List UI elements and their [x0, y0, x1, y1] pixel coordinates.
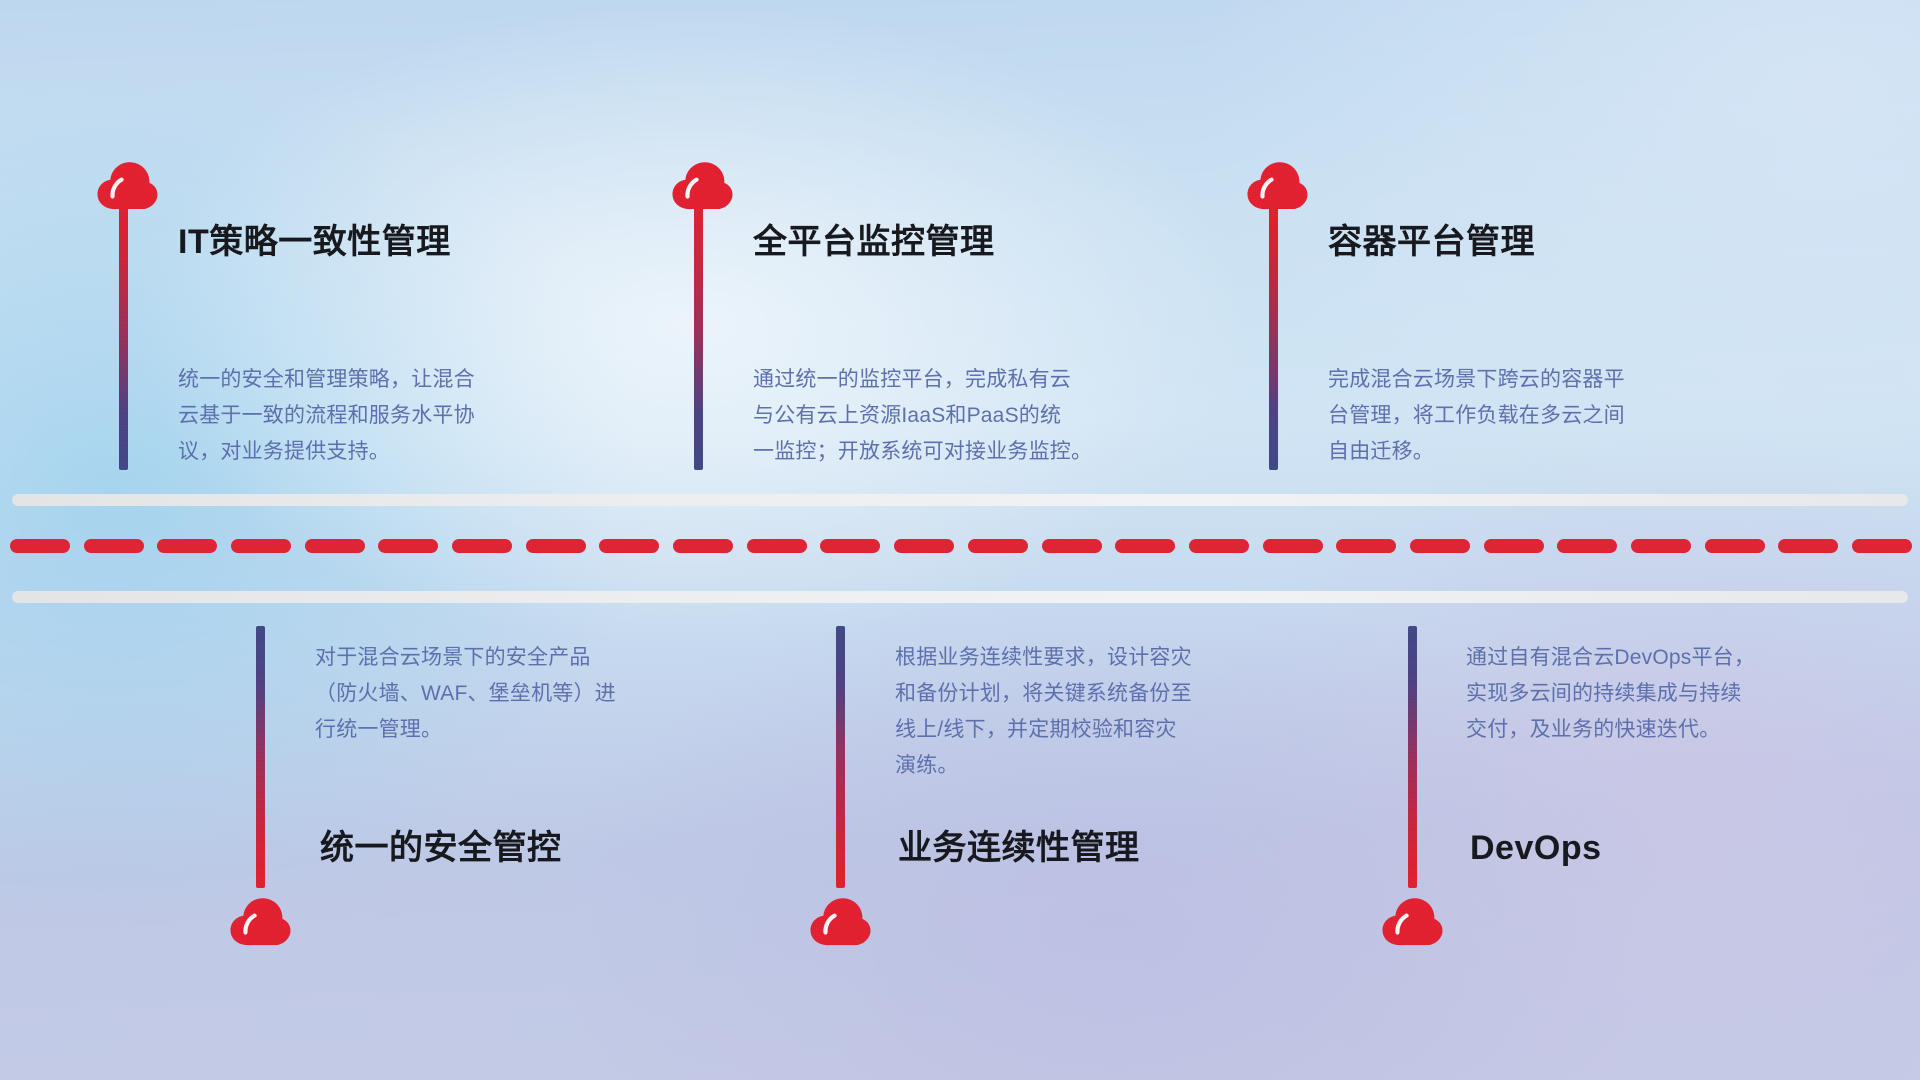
road-dash [1705, 539, 1765, 553]
road-dash [599, 539, 659, 553]
body-line: 根据业务连续性要求，设计容灾 [895, 640, 1315, 676]
card-body: 通过统一的监控平台，完成私有云 与公有云上资源IaaS和PaaS的统 一监控；开… [753, 362, 1213, 470]
road-dash [1631, 539, 1691, 553]
cloud-icon [96, 160, 158, 210]
marker-stem [1269, 205, 1278, 470]
road-dash [894, 539, 954, 553]
road-dash [1484, 539, 1544, 553]
road-dash [1189, 539, 1249, 553]
card-body: 对于混合云场景下的安全产品 （防火墙、WAF、堡垒机等）进 行统一管理。 [315, 640, 735, 748]
body-line: （防火墙、WAF、堡垒机等）进 [315, 676, 735, 712]
body-line: 自由迁移。 [1328, 434, 1768, 470]
road-dash [1557, 539, 1617, 553]
card-title: 统一的安全管控 [320, 828, 562, 869]
body-line: 与公有云上资源IaaS和PaaS的统 [753, 398, 1213, 434]
body-line: 实现多云间的持续集成与持续 [1466, 676, 1886, 712]
road-dash [452, 539, 512, 553]
road-dash [526, 539, 586, 553]
road-dash [1115, 539, 1175, 553]
infographic-canvas: IT策略一致性管理 统一的安全和管理策略，让混合 云基于一致的流程和服务水平协 … [0, 0, 1920, 1080]
road-dash [1852, 539, 1912, 553]
cloud-icon [1381, 896, 1443, 946]
road-dash [673, 539, 733, 553]
cloud-icon [671, 160, 733, 210]
road-dash [10, 539, 70, 553]
body-line: 对于混合云场景下的安全产品 [315, 640, 735, 676]
marker-stem [256, 626, 265, 888]
card-title: DevOps [1470, 828, 1602, 869]
cloud-icon [1246, 160, 1308, 210]
road-dash [1778, 539, 1838, 553]
card-title: 业务连续性管理 [898, 828, 1140, 869]
body-line: 交付，及业务的快速迭代。 [1466, 712, 1886, 748]
marker-stem [694, 205, 703, 470]
body-line: 一监控；开放系统可对接业务监控。 [753, 434, 1213, 470]
body-line: 通过自有混合云DevOps平台， [1466, 640, 1886, 676]
cloud-icon [809, 896, 871, 946]
marker-stem [836, 626, 845, 888]
body-line: 台管理，将工作负载在多云之间 [1328, 398, 1768, 434]
body-line: 演练。 [895, 748, 1315, 784]
road-dash [820, 539, 880, 553]
card-body: 完成混合云场景下跨云的容器平 台管理，将工作负载在多云之间 自由迁移。 [1328, 362, 1768, 470]
marker-stem [119, 205, 128, 470]
body-line: 通过统一的监控平台，完成私有云 [753, 362, 1213, 398]
card-body: 统一的安全和管理策略，让混合 云基于一致的流程和服务水平协 议，对业务提供支持。 [178, 362, 608, 470]
road-rail-top [12, 494, 1908, 506]
card-body: 根据业务连续性要求，设计容灾 和备份计划，将关键系统备份至 线上/线下，并定期校… [895, 640, 1315, 784]
card-body: 通过自有混合云DevOps平台， 实现多云间的持续集成与持续 交付，及业务的快速… [1466, 640, 1886, 748]
road-dash [1263, 539, 1323, 553]
road-dash [378, 539, 438, 553]
body-line: 行统一管理。 [315, 712, 735, 748]
body-line: 线上/线下，并定期校验和容灾 [895, 712, 1315, 748]
road-dash [157, 539, 217, 553]
road-dash [305, 539, 365, 553]
road-dash [1336, 539, 1396, 553]
road-dash [747, 539, 807, 553]
road-dash [1410, 539, 1470, 553]
card-title: 容器平台管理 [1328, 222, 1535, 263]
marker-devops: 通过自有混合云DevOps平台， 实现多云间的持续集成与持续 交付，及业务的快速… [0, 0, 1, 1]
road-dash [968, 539, 1028, 553]
card-title: IT策略一致性管理 [178, 222, 451, 263]
road-dash-line [10, 539, 1912, 553]
road-dash [1042, 539, 1102, 553]
road-dash [231, 539, 291, 553]
body-line: 完成混合云场景下跨云的容器平 [1328, 362, 1768, 398]
road-dash [84, 539, 144, 553]
body-line: 统一的安全和管理策略，让混合 [178, 362, 608, 398]
body-line: 和备份计划，将关键系统备份至 [895, 676, 1315, 712]
card-title: 全平台监控管理 [753, 222, 995, 263]
cloud-icon [229, 896, 291, 946]
marker-stem [1408, 626, 1417, 888]
body-line: 议，对业务提供支持。 [178, 434, 608, 470]
road-rail-bottom [12, 591, 1908, 603]
body-line: 云基于一致的流程和服务水平协 [178, 398, 608, 434]
